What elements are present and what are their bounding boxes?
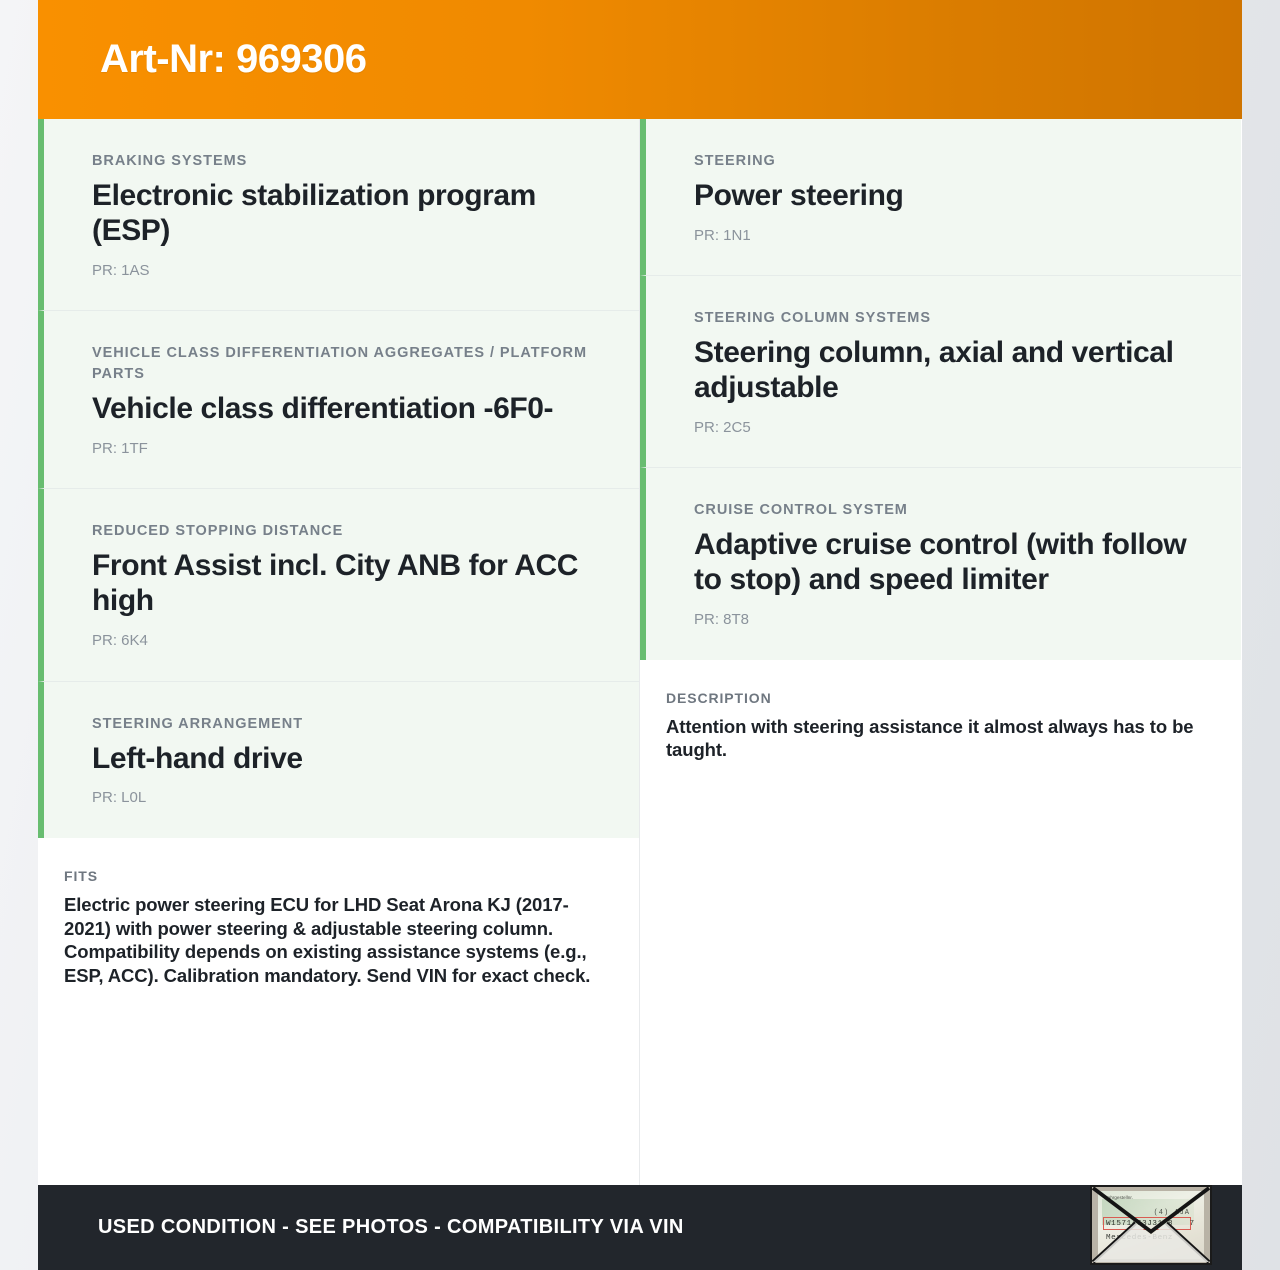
feature-category: STEERING — [694, 151, 1211, 172]
feature-category: STEERING COLUMN SYSTEMS — [694, 308, 1211, 329]
content-columns: BRAKING SYSTEMS Electronic stabilization… — [38, 119, 1242, 1185]
feature-card[interactable]: STEERING COLUMN SYSTEMS Steering column,… — [640, 276, 1241, 468]
feature-pr-code: PR: 1N1 — [694, 226, 1211, 246]
fits-block: FITS Electric power steering ECU for LHD… — [38, 838, 639, 1014]
feature-pr-code: PR: 2C5 — [694, 418, 1211, 438]
left-column-spacer — [38, 1014, 639, 1185]
fits-label: FITS — [64, 868, 605, 884]
listing-page: Art-Nr: 969306 BRAKING SYSTEMS Electroni… — [38, 0, 1242, 1270]
feature-title: Vehicle class differentiation -6F0- — [92, 392, 609, 427]
feature-title: Steering column, axial and vertical adju… — [694, 336, 1211, 406]
feature-card[interactable]: BRAKING SYSTEMS Electronic stabilization… — [38, 119, 639, 311]
left-column: BRAKING SYSTEMS Electronic stabilization… — [38, 119, 640, 1185]
fits-text: Electric power steering ECU for LHD Seat… — [64, 893, 605, 988]
feature-card[interactable]: REDUCED STOPPING DISTANCE Front Assist i… — [38, 489, 639, 681]
envelope-icon — [1092, 1187, 1210, 1263]
description-text: Attention with steering assistance it al… — [666, 715, 1201, 762]
feature-category: BRAKING SYSTEMS — [92, 151, 609, 172]
feature-title: Power steering — [694, 179, 1211, 214]
footer-condition-notice: USED CONDITION - SEE PHOTOS - COMPATIBIL… — [38, 1216, 684, 1239]
right-column: STEERING Power steering PR: 1N1 STEERING… — [640, 119, 1241, 1185]
feature-title: Adaptive cruise control (with follow to … — [694, 528, 1211, 598]
page-footer: USED CONDITION - SEE PHOTOS - COMPATIBIL… — [38, 1185, 1242, 1270]
feature-title: Electronic stabilization program (ESP) — [92, 179, 609, 249]
feature-pr-code: PR: 1AS — [92, 261, 609, 281]
feature-card[interactable]: STEERING Power steering PR: 1N1 — [640, 119, 1241, 276]
page-header: Art-Nr: 969306 — [38, 0, 1242, 119]
left-feature-list: BRAKING SYSTEMS Electronic stabilization… — [38, 119, 639, 838]
feature-pr-code: PR: L0L — [92, 788, 609, 808]
feature-pr-code: PR: 6K4 — [92, 631, 609, 651]
feature-title: Front Assist incl. City ANB for ACC high — [92, 549, 609, 619]
feature-category: VEHICLE CLASS DIFFERENTIATION AGGREGATES… — [92, 343, 609, 385]
feature-category: CRUISE CONTROL SYSTEM — [694, 500, 1211, 521]
feature-pr-code: PR: 8T8 — [694, 610, 1211, 630]
description-block: DESCRIPTION Attention with steering assi… — [640, 660, 1241, 788]
vin-document-thumbnail[interactable]: Fahrgestellnr. (4) AJA W1571463J31 8 7 M… — [1090, 1185, 1212, 1265]
feature-category: STEERING ARRANGEMENT — [92, 714, 609, 735]
description-label: DESCRIPTION — [666, 690, 1201, 706]
right-column-spacer — [640, 788, 1241, 1185]
feature-title: Left-hand drive — [92, 742, 609, 777]
feature-card[interactable]: CRUISE CONTROL SYSTEM Adaptive cruise co… — [640, 468, 1241, 659]
page-title: Art-Nr: 969306 — [38, 37, 366, 82]
right-feature-list: STEERING Power steering PR: 1N1 STEERING… — [640, 119, 1241, 660]
feature-category: REDUCED STOPPING DISTANCE — [92, 521, 609, 542]
feature-pr-code: PR: 1TF — [92, 439, 609, 459]
feature-card[interactable]: STEERING ARRANGEMENT Left-hand drive PR:… — [38, 682, 639, 838]
feature-card[interactable]: VEHICLE CLASS DIFFERENTIATION AGGREGATES… — [38, 311, 639, 489]
